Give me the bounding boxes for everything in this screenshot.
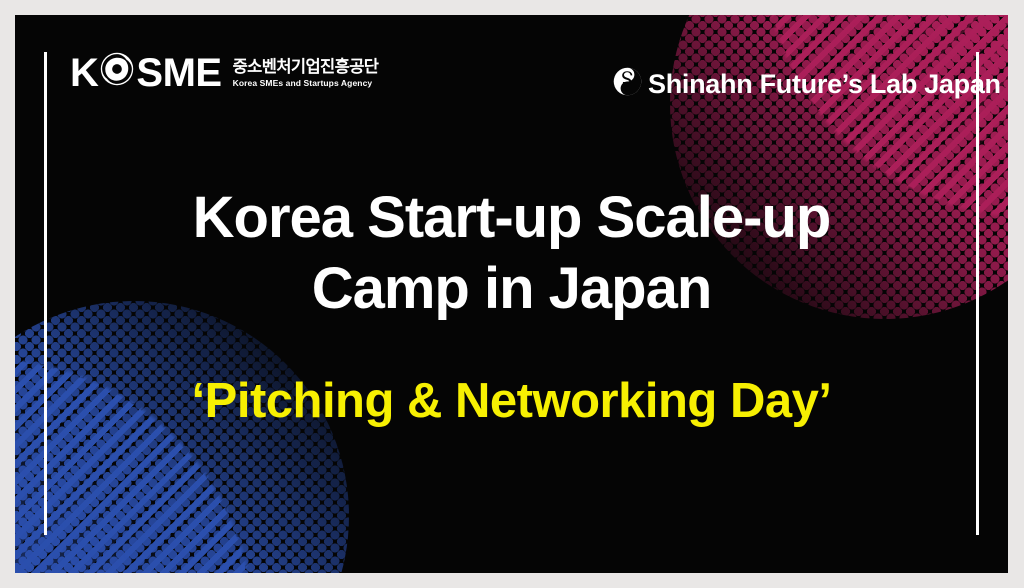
kosme-wordmark: K SME: [70, 51, 222, 94]
kosme-swirl-icon: [99, 51, 135, 94]
kosme-subtitle-english: Korea SMEs and Startups Agency: [233, 79, 379, 88]
page-subtitle: ‘Pitching & Networking Day’: [15, 375, 1008, 429]
title-block: Korea Start-up Scale-up Camp in Japan ‘P…: [15, 183, 1008, 428]
shinahn-logo: Shinahn Future’s Lab Japan: [613, 67, 1001, 101]
kosme-wordmark-sme: SME: [136, 53, 221, 93]
blue-halftone-dots: [15, 301, 349, 573]
slide-canvas: K SME 중소벤처기업진흥공단 Korea SMEs and Startups…: [15, 15, 1008, 573]
blue-halftone-stripes: [15, 301, 349, 573]
slide-header: K SME 중소벤처기업진흥공단 Korea SMEs and Startups…: [15, 15, 1008, 135]
page-title-line-1: Korea Start-up Scale-up: [15, 183, 1008, 254]
blue-halftone-circle: [15, 301, 349, 573]
kosme-wordmark-k: K: [70, 53, 98, 93]
page-title-line-2: Camp in Japan: [15, 254, 1008, 325]
shinahn-s-circle-icon: [613, 67, 642, 101]
blue-stripe-corner: [15, 273, 315, 573]
kosme-logo: K SME 중소벤처기업진흥공단 Korea SMEs and Startups…: [70, 51, 378, 94]
kosme-subtitle-group: 중소벤처기업진흥공단 Korea SMEs and Startups Agenc…: [233, 57, 379, 87]
kosme-subtitle-korean: 중소벤처기업진흥공단: [233, 59, 379, 76]
slide-frame: K SME 중소벤처기업진흥공단 Korea SMEs and Startups…: [0, 0, 1024, 588]
shinahn-logo-text: Shinahn Future’s Lab Japan: [648, 71, 1001, 98]
